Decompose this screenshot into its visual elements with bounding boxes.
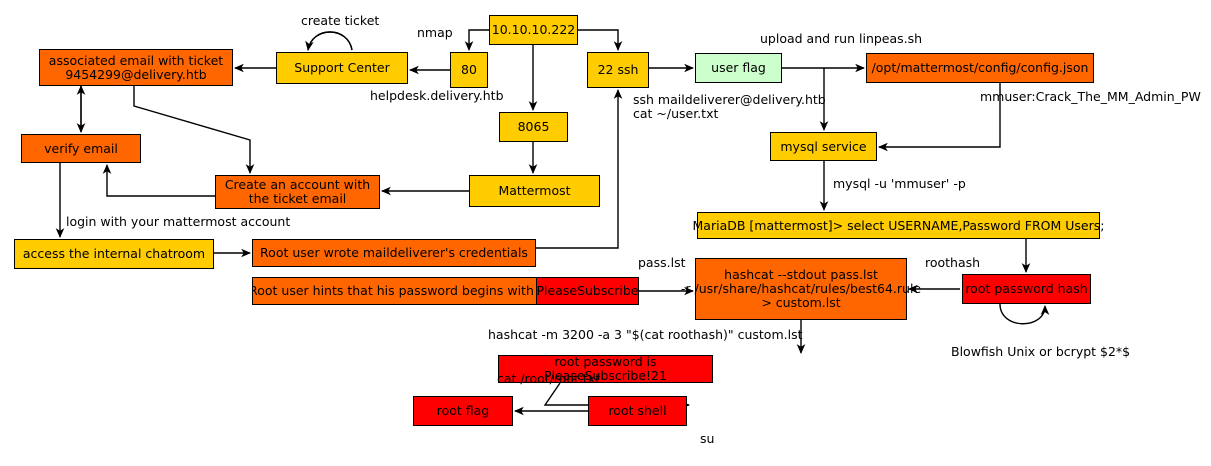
node-hashcat-rule[interactable]: hashcat --stdout pass.lst -r /usr/share/… — [695, 258, 907, 320]
node-label: hashcat --stdout pass.lst -r /usr/share/… — [681, 268, 921, 310]
flowchart-canvas: 10.10.10.22280806522 sshSupport Centeras… — [0, 0, 1211, 466]
node-label: user flag — [711, 61, 766, 75]
edge-label-mysql-login: mysql -u 'mmuser' -p — [833, 177, 1003, 191]
edge-label-upload-linpeas: upload and run linpeas.sh — [760, 32, 960, 46]
node-port80[interactable]: 80 — [450, 52, 488, 88]
edge-label-hashcat-cmd: hashcat -m 3200 -a 3 "$(cat roothash)" c… — [488, 328, 818, 342]
edge-label-login-mm: login with your mattermost account — [66, 215, 336, 229]
node-label: MariaDB [mattermost]> select USERNAME,Pa… — [693, 219, 1105, 233]
node-label: /opt/mattermost/config/config.json — [872, 61, 1089, 75]
edge-label-create-ticket: create ticket — [301, 14, 411, 28]
node-label: 10.10.10.222 — [492, 23, 576, 37]
node-assoc-email[interactable]: associated email with ticket 9454299@del… — [39, 49, 233, 86]
node-verify-email[interactable]: verify email — [21, 134, 141, 163]
edge-label-roothash-label: roothash — [925, 256, 1005, 270]
edge-label-ssh-cmds: ssh maildeliverer@delivery.htb cat ~/use… — [633, 93, 863, 121]
edge-label-helpdesk: helpdesk.delivery.htb — [370, 89, 540, 103]
password-hint-value[interactable]: PleaseSubscribe! — [536, 278, 640, 304]
node-password-hint[interactable]: Root user hints that his password begins… — [252, 277, 639, 305]
node-label: Create an account with the ticket email — [225, 178, 370, 206]
edge-label-cat-root-txt: cat /root/root.txt — [497, 372, 637, 386]
node-label: Root user wrote maildeliverer's credenti… — [260, 246, 528, 260]
edge-label-mmuser-creds: mmuser:Crack_The_MM_Admin_PW — [980, 90, 1211, 104]
node-config-json[interactable]: /opt/mattermost/config/config.json — [866, 53, 1094, 83]
node-label: Support Center — [294, 61, 389, 75]
password-hint-text: Root user hints that his password begins… — [252, 278, 536, 304]
node-label: 8065 — [518, 120, 550, 134]
node-mysql-service[interactable]: mysql service — [770, 132, 877, 161]
node-label: root flag — [437, 404, 490, 418]
edge-label-pass-lst: pass.lst — [638, 256, 708, 270]
edge-label-su: su — [700, 432, 730, 446]
node-root-flag[interactable]: root flag — [413, 396, 513, 426]
node-create-acct[interactable]: Create an account with the ticket email — [215, 175, 380, 209]
node-label: root password hash — [965, 282, 1087, 296]
node-root-creds[interactable]: Root user wrote maildeliverer's credenti… — [252, 239, 536, 267]
node-mariadb[interactable]: MariaDB [mattermost]> select USERNAME,Pa… — [697, 212, 1100, 239]
node-label: 22 ssh — [598, 63, 639, 77]
node-roothash[interactable]: root password hash — [962, 274, 1091, 304]
node-label: root shell — [608, 404, 666, 418]
node-label: verify email — [44, 142, 118, 156]
node-port8065[interactable]: 8065 — [499, 112, 568, 142]
node-label: access the internal chatroom — [23, 247, 205, 261]
node-user-flag[interactable]: user flag — [695, 53, 782, 83]
node-label: associated email with ticket 9454299@del… — [49, 54, 223, 82]
node-root-shell[interactable]: root shell — [588, 396, 687, 426]
node-mattermost[interactable]: Mattermost — [469, 175, 600, 207]
node-chatroom[interactable]: access the internal chatroom — [14, 239, 214, 269]
node-label: Mattermost — [498, 184, 570, 198]
node-label: mysql service — [780, 140, 866, 154]
node-label: 80 — [461, 63, 477, 77]
node-support[interactable]: Support Center — [276, 52, 408, 84]
node-target[interactable]: 10.10.10.222 — [489, 15, 578, 45]
node-port22[interactable]: 22 ssh — [587, 52, 649, 88]
edge-label-blowfish: Blowfish Unix or bcrypt $2*$ — [951, 345, 1181, 359]
edge-label-nmap: nmap — [417, 26, 477, 40]
